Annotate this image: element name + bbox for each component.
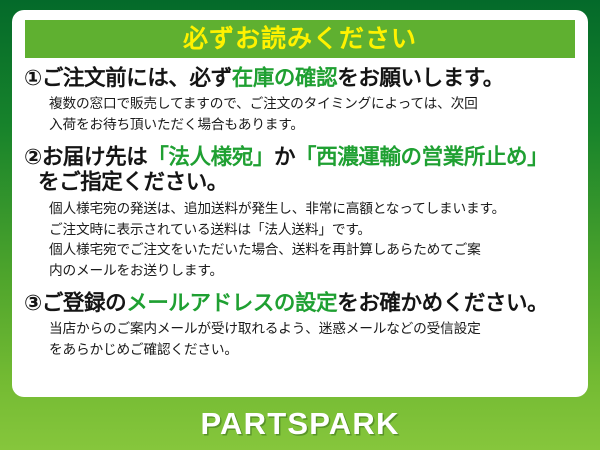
body-line: 内のメールをお送りします。 [49,261,578,282]
body-line: ご注文時に表示されている送料は「法人送料」です。 [49,220,578,241]
item-number-icon: ① [24,66,42,90]
heading-segment: ご登録の [42,291,126,315]
notice-item-heading: ②お届け先は「法人様宛」か「西濃運輸の営業所止め」をご指定ください。 [24,145,578,196]
heading-second-line: をご指定ください。 [24,170,578,195]
heading-segment: 「西濃運輸の営業所止め」 [295,145,548,169]
body-line: 当店からのご案内メールが受け取れるよう、迷惑メールなどの受信設定 [49,319,578,340]
notice-item-body: 個人様宅宛の発送は、追加送料が発生し、非常に高額となってしまいます。ご注文時に表… [24,199,578,282]
heading-segment: をお願いします。 [337,66,504,90]
item-number-icon: ③ [24,291,42,315]
heading-segment: 在庫の確認 [232,66,338,90]
footer-bar: PARTSPARK [0,397,600,450]
body-line: 複数の窓口で販売してますので、ご注文のタイミングによっては、次回 [49,94,578,115]
notice-item: ②お届け先は「法人様宛」か「西濃運輸の営業所止め」をご指定ください。個人様宅宛の… [12,145,588,282]
notice-card: 必ずお読みください ①ご注文前には、必ず在庫の確認をお願いします。複数の窓口で販… [12,10,588,397]
notice-banner: 必ずお読みください ①ご注文前には、必ず在庫の確認をお願いします。複数の窓口で販… [0,0,600,450]
banner-title: 必ずお読みください [183,27,417,52]
notice-item: ③ご登録のメールアドレスの設定をお確かめください。当店からのご案内メールが受け取… [12,291,588,361]
body-line: 入荷をお待ち頂いただく場合もあります。 [49,115,578,136]
notice-item-heading: ③ご登録のメールアドレスの設定をお確かめください。 [24,291,578,316]
heading-segment: か [274,145,295,169]
heading-segment: 「法人様宛」 [147,145,274,169]
body-line: 個人様宅宛でご注文をいただいた場合、送料を再計算しあらためてご案 [49,240,578,261]
notice-item: ①ご注文前には、必ず在庫の確認をお願いします。複数の窓口で販売してますので、ご注… [12,66,588,136]
heading-segment: をお確かめください。 [337,291,548,315]
title-bar: 必ずお読みください [25,20,575,58]
notice-item-list: ①ご注文前には、必ず在庫の確認をお願いします。複数の窓口で販売してますので、ご注… [12,66,588,361]
notice-item-heading: ①ご注文前には、必ず在庫の確認をお願いします。 [24,66,578,91]
heading-segment: お届け先は [42,145,148,169]
notice-item-body: 当店からのご案内メールが受け取れるよう、迷惑メールなどの受信設定をあらかじめご確… [24,319,578,361]
brand-name: PARTSPARK [200,408,399,439]
heading-segment: ご注文前には、必ず [42,66,232,90]
body-line: 個人様宅宛の発送は、追加送料が発生し、非常に高額となってしまいます。 [49,199,578,220]
body-line: をあらかじめご確認ください。 [49,340,578,361]
item-number-icon: ② [24,145,42,169]
heading-segment: メールアドレスの設定 [126,291,337,315]
notice-item-body: 複数の窓口で販売してますので、ご注文のタイミングによっては、次回入荷をお待ち頂い… [24,94,578,136]
